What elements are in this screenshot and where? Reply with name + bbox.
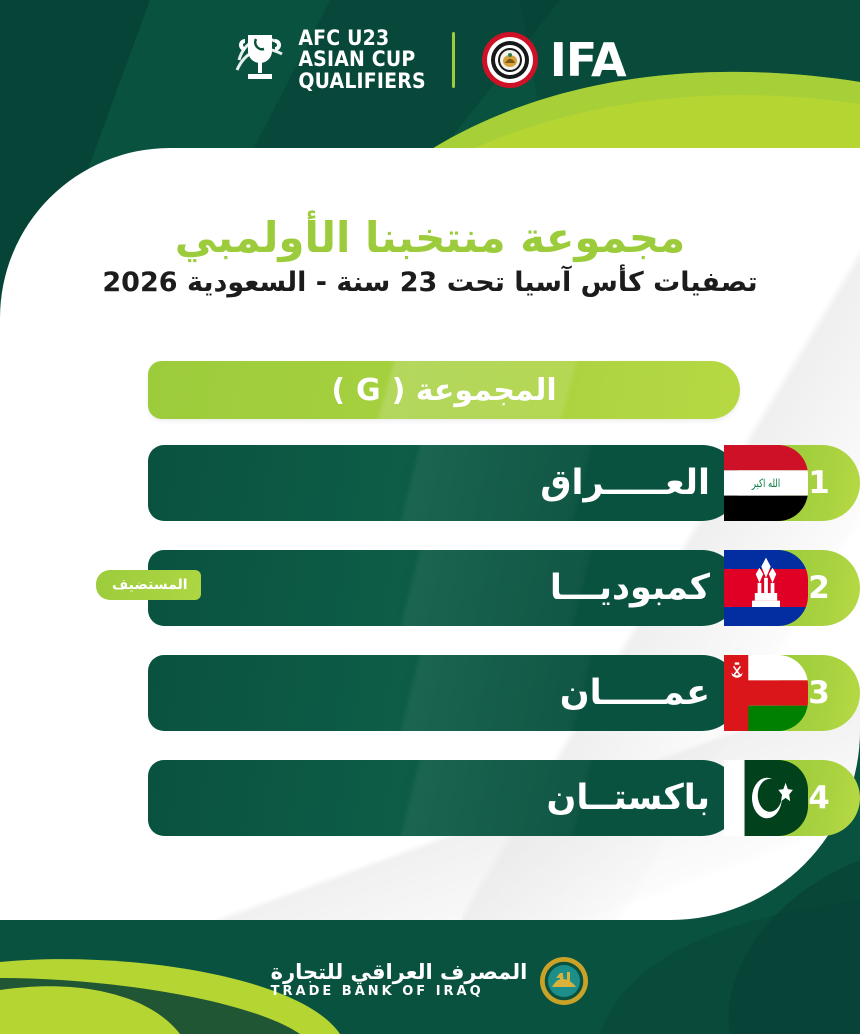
team-name-1: العـــــراق — [540, 445, 710, 521]
rank-number-4: 4 — [808, 783, 830, 814]
afc-line-1: AFC U23 — [298, 28, 425, 49]
sponsor-name-ar: المصرف العراقي للتجارة — [271, 961, 528, 984]
status-badge: المستضيف — [96, 570, 201, 600]
poster-root: AFC U23 ASIAN CUP QUALIFIERS IFA — [0, 0, 860, 1034]
trade-bank-of-iraq-crest-icon — [539, 956, 589, 1006]
afc-line-2: ASIAN CUP — [298, 49, 425, 70]
afc-wordmark: AFC U23 ASIAN CUP QUALIFIERS — [298, 28, 425, 92]
flag-oman-svg — [724, 655, 808, 731]
flag-oman-icon — [724, 655, 808, 731]
flag-pakistan-svg — [724, 760, 808, 836]
rank-number-2: 2 — [808, 573, 830, 604]
flag-cambodia-icon — [724, 550, 808, 626]
table-row[interactable]: المستضيف 2 — [0, 550, 860, 626]
table-row[interactable]: 3 عمـــــان — [0, 655, 860, 731]
afc-logo: AFC U23 ASIAN CUP QUALIFIERS — [234, 28, 425, 92]
host-badge-label: المستضيف — [112, 577, 188, 593]
team-name-3: عمـــــان — [560, 655, 710, 731]
page-subtitle: تصفيات كأس آسيا تحت 23 سنة - السعودية 20… — [0, 267, 860, 299]
vertical-divider-icon — [452, 32, 455, 88]
flag-cambodia-svg — [724, 550, 808, 626]
flag-pakistan-icon — [724, 760, 808, 836]
page-title: مجموعة منتخبنا الأولمبي — [0, 214, 860, 261]
rank-number-1: 1 — [808, 468, 830, 499]
table-row[interactable]: 4 باكستــان — [0, 760, 860, 836]
group-banner-label: المجموعة ( G ) — [331, 373, 556, 408]
rank-number-3: 3 — [808, 678, 830, 709]
sponsor-name-en: TRADE BANK OF IRAQ — [271, 984, 528, 1001]
flag-iraq-icon: الله اكبر — [724, 445, 808, 521]
team-name-2: كمبوديـــا — [550, 550, 710, 626]
table-row[interactable]: 1 الله اكبر العـــــراق — [0, 445, 860, 521]
ifa-logo: IFA — [481, 31, 626, 89]
afc-line-3: QUALIFIERS — [298, 71, 425, 92]
svg-text:الله اكبر: الله اكبر — [751, 478, 780, 491]
trophy-icon — [234, 30, 286, 90]
iraq-football-association-crest-icon — [481, 31, 539, 89]
sponsor-wordmark: المصرف العراقي للتجارة TRADE BANK OF IRA… — [271, 961, 528, 1001]
group-banner: المجموعة ( G ) — [148, 361, 740, 419]
standings-list: 1 الله اكبر العـــــراق المستضيف 2 — [0, 445, 860, 865]
ifa-wordmark: IFA — [550, 37, 626, 83]
team-name-4: باكستــان — [547, 760, 710, 836]
footer-sponsor: المصرف العراقي للتجارة TRADE BANK OF IRA… — [0, 956, 860, 1006]
header: AFC U23 ASIAN CUP QUALIFIERS IFA — [0, 0, 860, 120]
titles-block: مجموعة منتخبنا الأولمبي تصفيات كأس آسيا … — [0, 214, 860, 299]
flag-iraq-svg: الله اكبر — [724, 445, 808, 521]
